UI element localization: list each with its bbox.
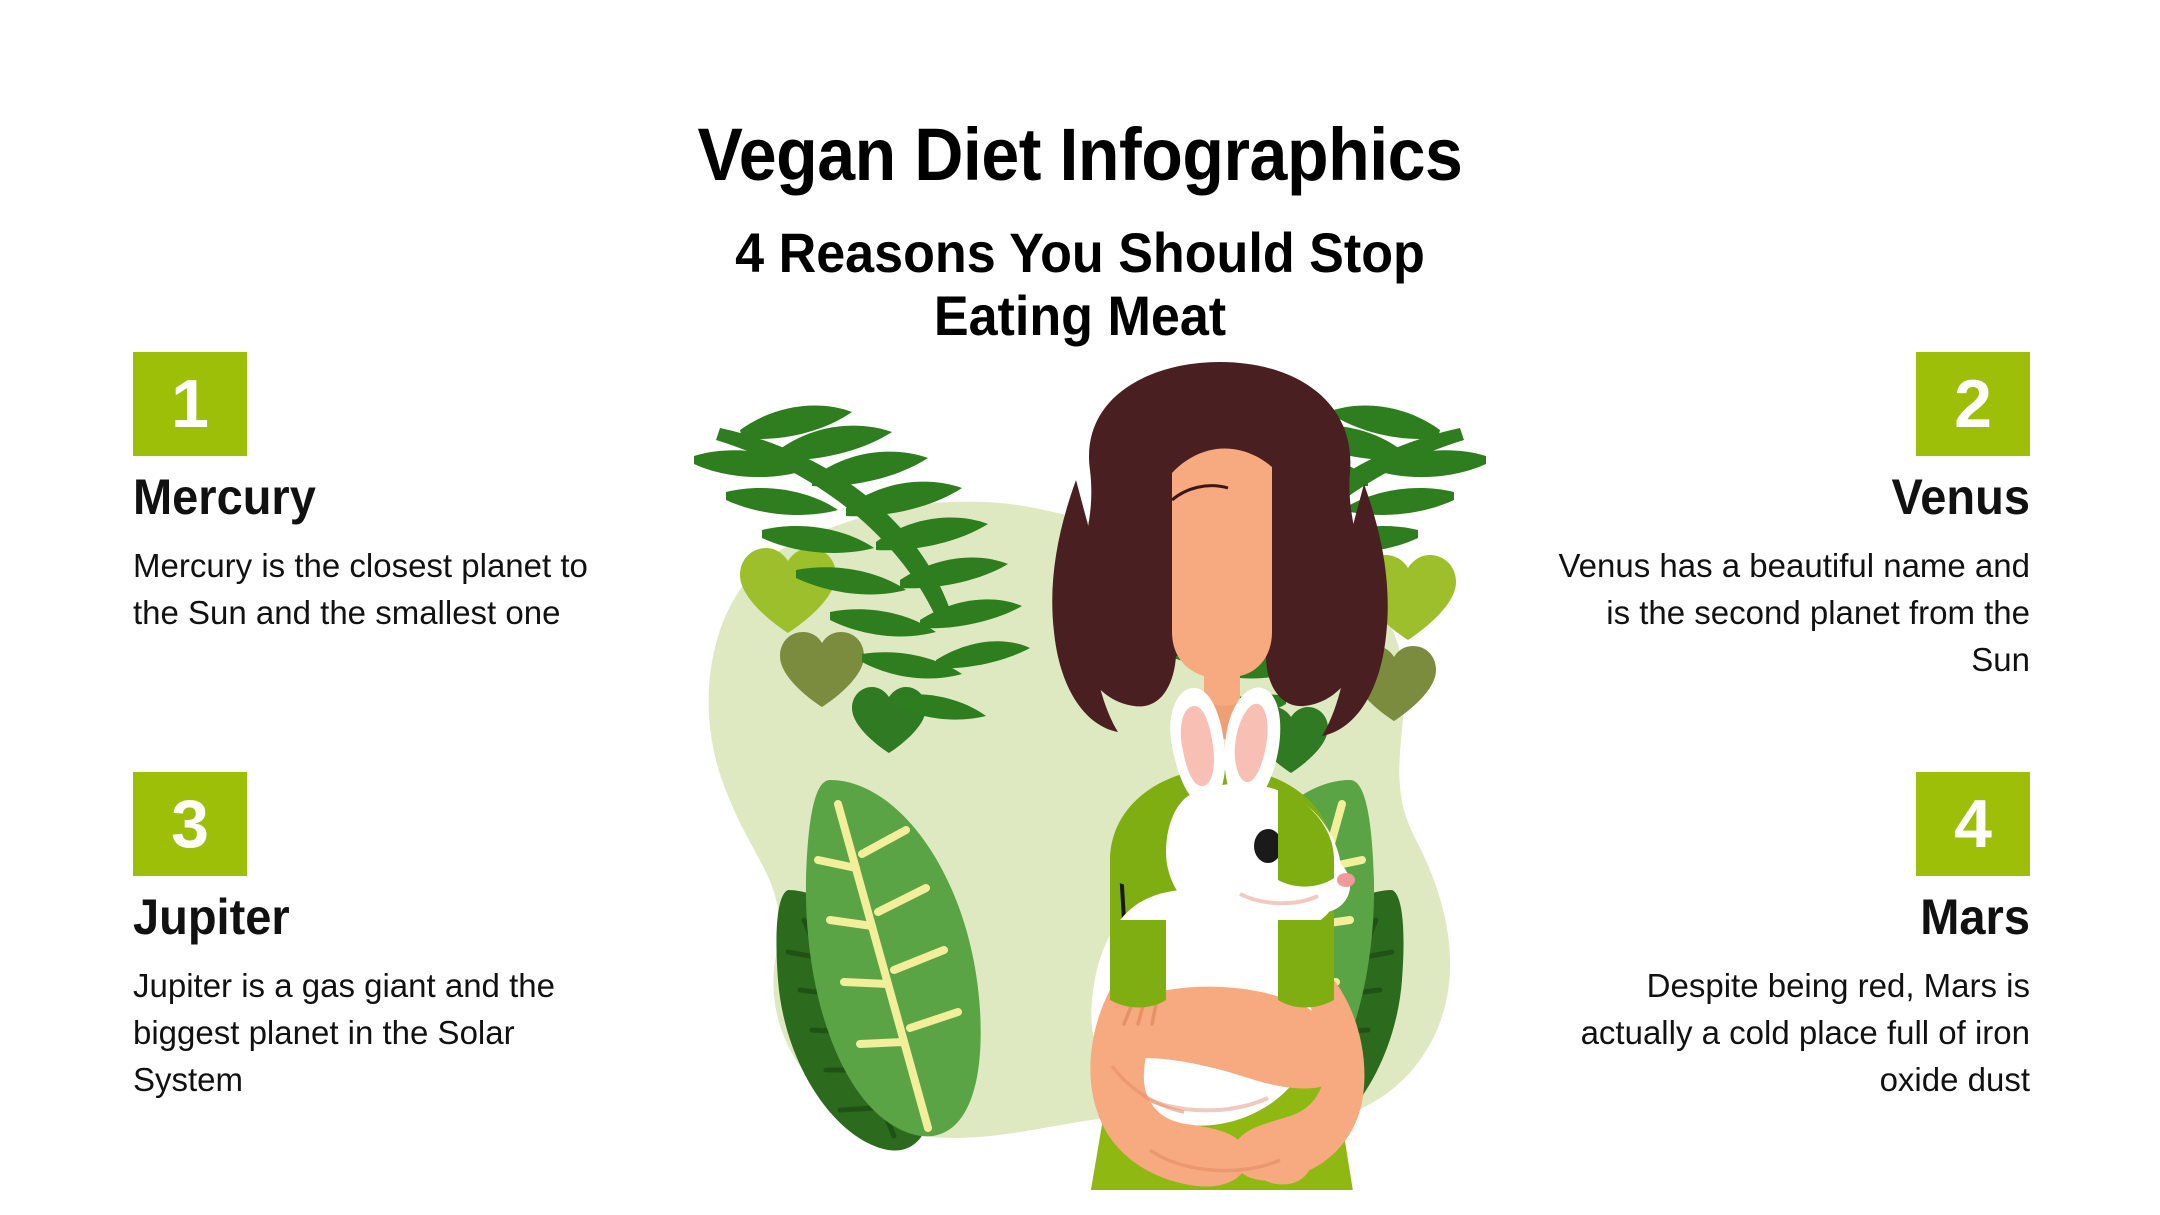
fact-body-venus: Venus has a beautiful name and is the se… [1550,543,2030,684]
fact-number-badge-3: 3 [133,772,247,876]
header: Vegan Diet Infographics 4 Reasons You Sh… [0,0,2160,347]
fact-block-jupiter: 3 Jupiter Jupiter is a gas giant and the… [133,772,613,1104]
fact-body-mars: Despite being red, Mars is actually a co… [1550,963,2030,1104]
fact-number-badge-1: 1 [133,352,247,456]
page-title: Vegan Diet Infographics [86,0,2073,192]
fact-title-venus: Venus [1579,470,2030,525]
fact-title-jupiter: Jupiter [133,890,584,945]
fact-body-jupiter: Jupiter is a gas giant and the biggest p… [133,963,613,1104]
fact-body-mercury: Mercury is the closest planet to the Sun… [133,543,613,637]
rabbit-eye [1254,829,1282,863]
fact-block-mars: 4 Mars Despite being red, Mars is actual… [1550,772,2030,1104]
fact-title-mercury: Mercury [133,470,584,525]
vegan-illustration [680,360,1500,1190]
fact-number-badge-4: 4 [1916,772,2030,876]
rabbit-nose [1337,873,1355,887]
fact-number-badge-2: 2 [1916,352,2030,456]
fact-block-mercury: 1 Mercury Mercury is the closest planet … [133,352,613,637]
fact-title-mars: Mars [1579,890,2030,945]
page-subtitle: 4 Reasons You Should Stop Eating Meat [680,192,1480,347]
fact-block-venus: 2 Venus Venus has a beautiful name and i… [1550,352,2030,684]
